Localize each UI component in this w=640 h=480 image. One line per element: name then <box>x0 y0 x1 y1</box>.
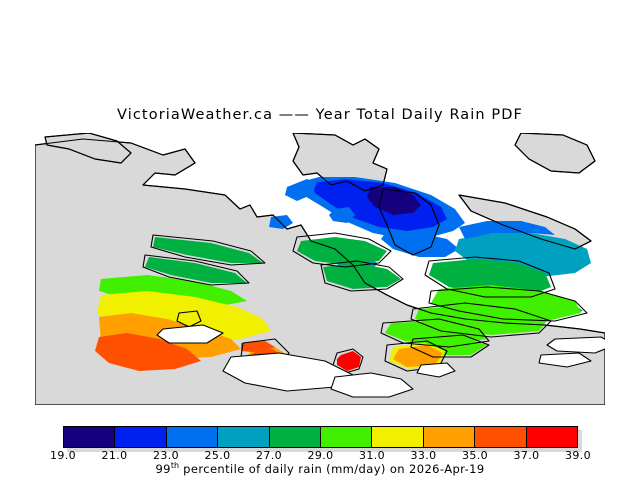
colorbar-segment-6 <box>372 427 423 447</box>
map-canvas <box>35 133 605 405</box>
colorbar-segments <box>63 426 578 448</box>
caption-rest: percentile of daily rain (mm/day) on 202… <box>179 462 484 476</box>
colorbar-segment-1 <box>115 427 166 447</box>
map-panel <box>35 133 605 405</box>
colorbar-segment-2 <box>167 427 218 447</box>
colorbar-segment-8 <box>475 427 526 447</box>
colorbar-caption: 99th percentile of daily rain (mm/day) o… <box>0 461 640 476</box>
colorbar-segment-3 <box>218 427 269 447</box>
page-title: VictoriaWeather.ca —— Year Total Daily R… <box>0 107 640 123</box>
weather-map-page: VictoriaWeather.ca —— Year Total Daily R… <box>0 0 640 480</box>
colorbar <box>63 426 578 448</box>
colorbar-segment-9 <box>527 427 577 447</box>
colorbar-segment-5 <box>321 427 372 447</box>
lake-c <box>547 337 605 353</box>
colorbar-segment-0 <box>64 427 115 447</box>
caption-superscript: th <box>171 461 179 470</box>
caption-prefix: 99 <box>155 462 170 476</box>
colorbar-segment-7 <box>424 427 475 447</box>
colorbar-segment-4 <box>270 427 321 447</box>
